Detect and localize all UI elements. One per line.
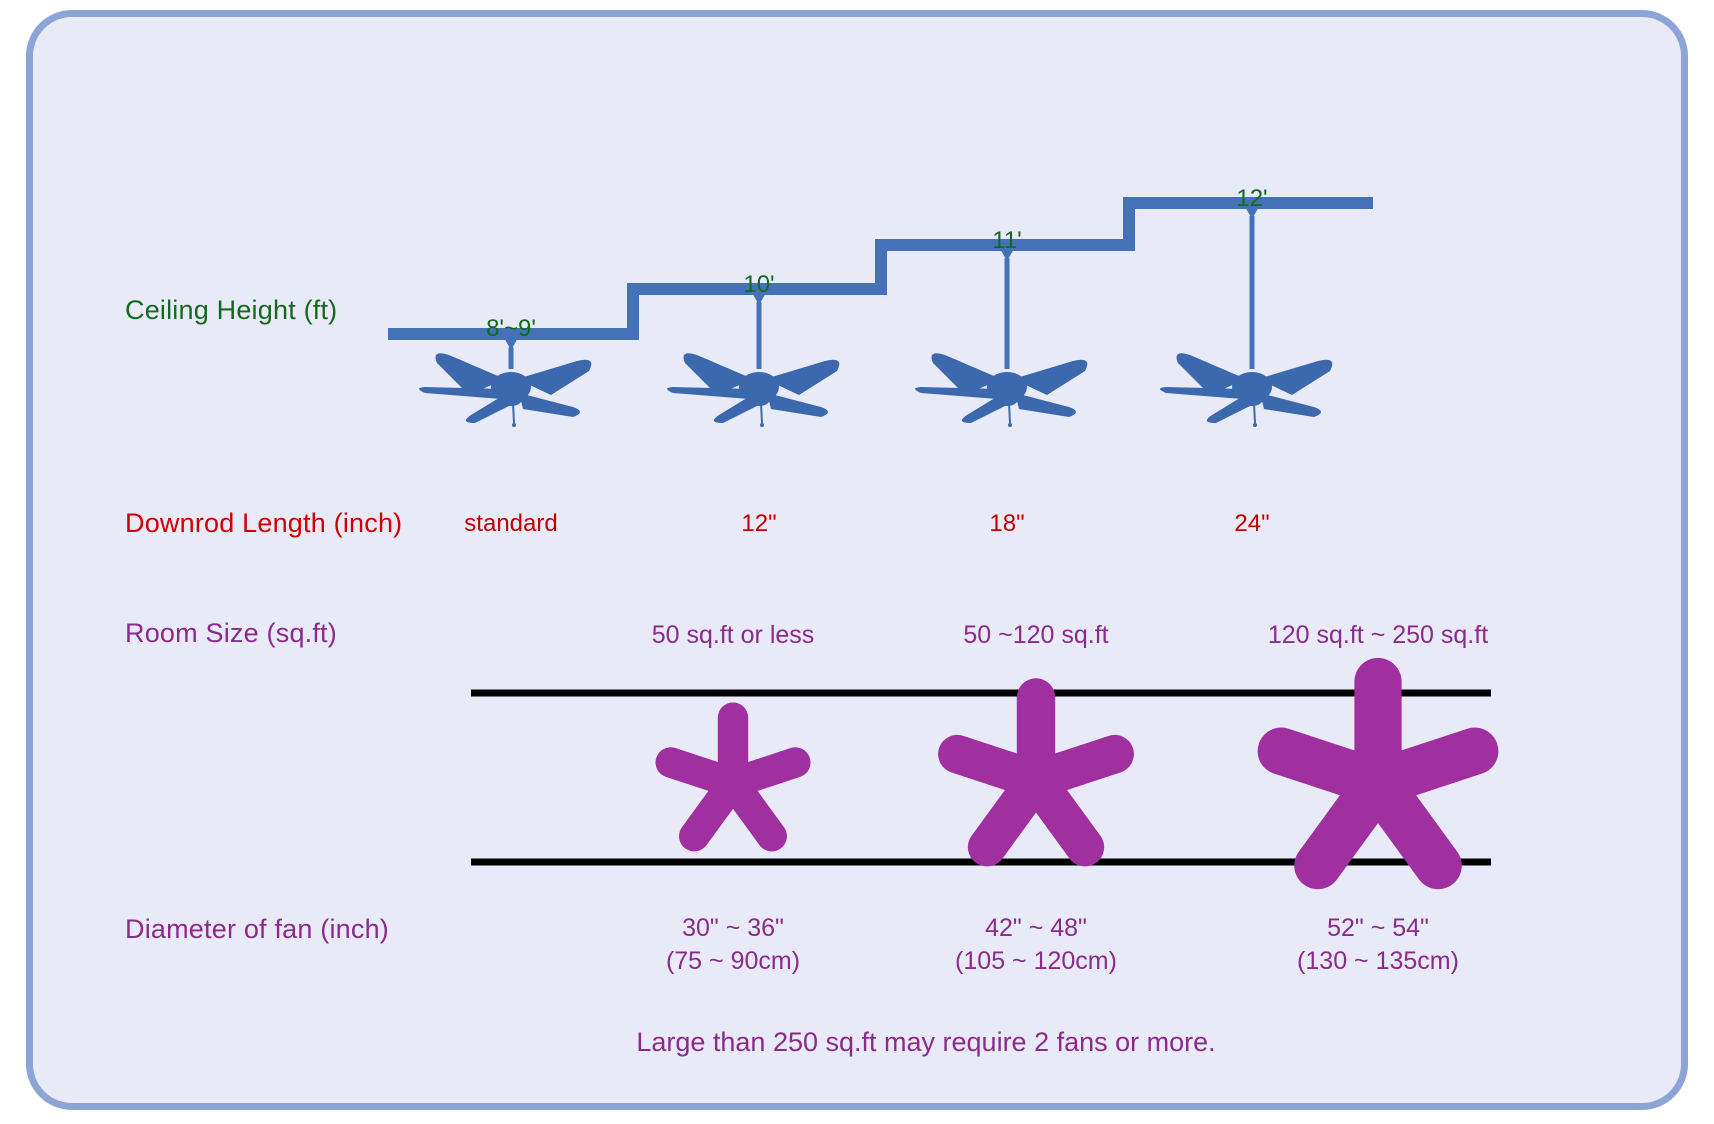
fan-diameter-value-1: 30" ~ 36" (75 ~ 90cm): [666, 912, 800, 978]
fan-diameter-cm-3: (130 ~ 135cm): [1297, 945, 1459, 978]
downrod-value-3: 18": [989, 510, 1024, 538]
room-fan-icon-1: [671, 718, 796, 837]
ceiling-height-value-3: 11': [992, 227, 1022, 255]
downrod-value-1: standard: [464, 510, 557, 538]
row-label-ceiling-height: Ceiling Height (ft): [125, 295, 337, 326]
downrod-value-4: 24": [1234, 510, 1269, 538]
room-size-value-3: 120 sq.ft ~ 250 sq.ft: [1268, 621, 1488, 650]
row-label-room-size: Room Size (sq.ft): [125, 618, 337, 649]
room-size-value-2: 50 ~120 sq.ft: [963, 621, 1108, 650]
room-size-value-1: 50 sq.ft or less: [652, 621, 815, 650]
room-fan-icon-2: [957, 697, 1114, 847]
ceiling-height-value-2: 10': [743, 271, 774, 299]
fan-diameter-inches-3: 52" ~ 54": [1297, 912, 1459, 945]
room-fan-icon-3: [1281, 682, 1475, 866]
infographic-card: Ceiling Height (ft) Downrod Length (inch…: [26, 10, 1688, 1110]
fan-diameter-value-3: 52" ~ 54" (130 ~ 135cm): [1297, 912, 1459, 978]
fan-diameter-cm-1: (75 ~ 90cm): [666, 945, 800, 978]
infographic-canvas: Ceiling Height (ft) Downrod Length (inch…: [0, 0, 1714, 1124]
fan-diameter-value-2: 42" ~ 48" (105 ~ 120cm): [955, 912, 1117, 978]
fan-diameter-inches-2: 42" ~ 48": [955, 912, 1117, 945]
row-label-fan-diameter: Diameter of fan (inch): [125, 914, 389, 945]
ceiling-height-value-1: 8'~9': [486, 315, 536, 343]
footer-note: Large than 250 sq.ft may require 2 fans …: [636, 1027, 1215, 1058]
fan-diameter-cm-2: (105 ~ 120cm): [955, 945, 1117, 978]
ceiling-height-value-4: 12': [1236, 185, 1267, 213]
row-label-downrod-length: Downrod Length (inch): [125, 508, 402, 539]
downrod-value-2: 12": [741, 510, 776, 538]
fan-diameter-inches-1: 30" ~ 36": [666, 912, 800, 945]
